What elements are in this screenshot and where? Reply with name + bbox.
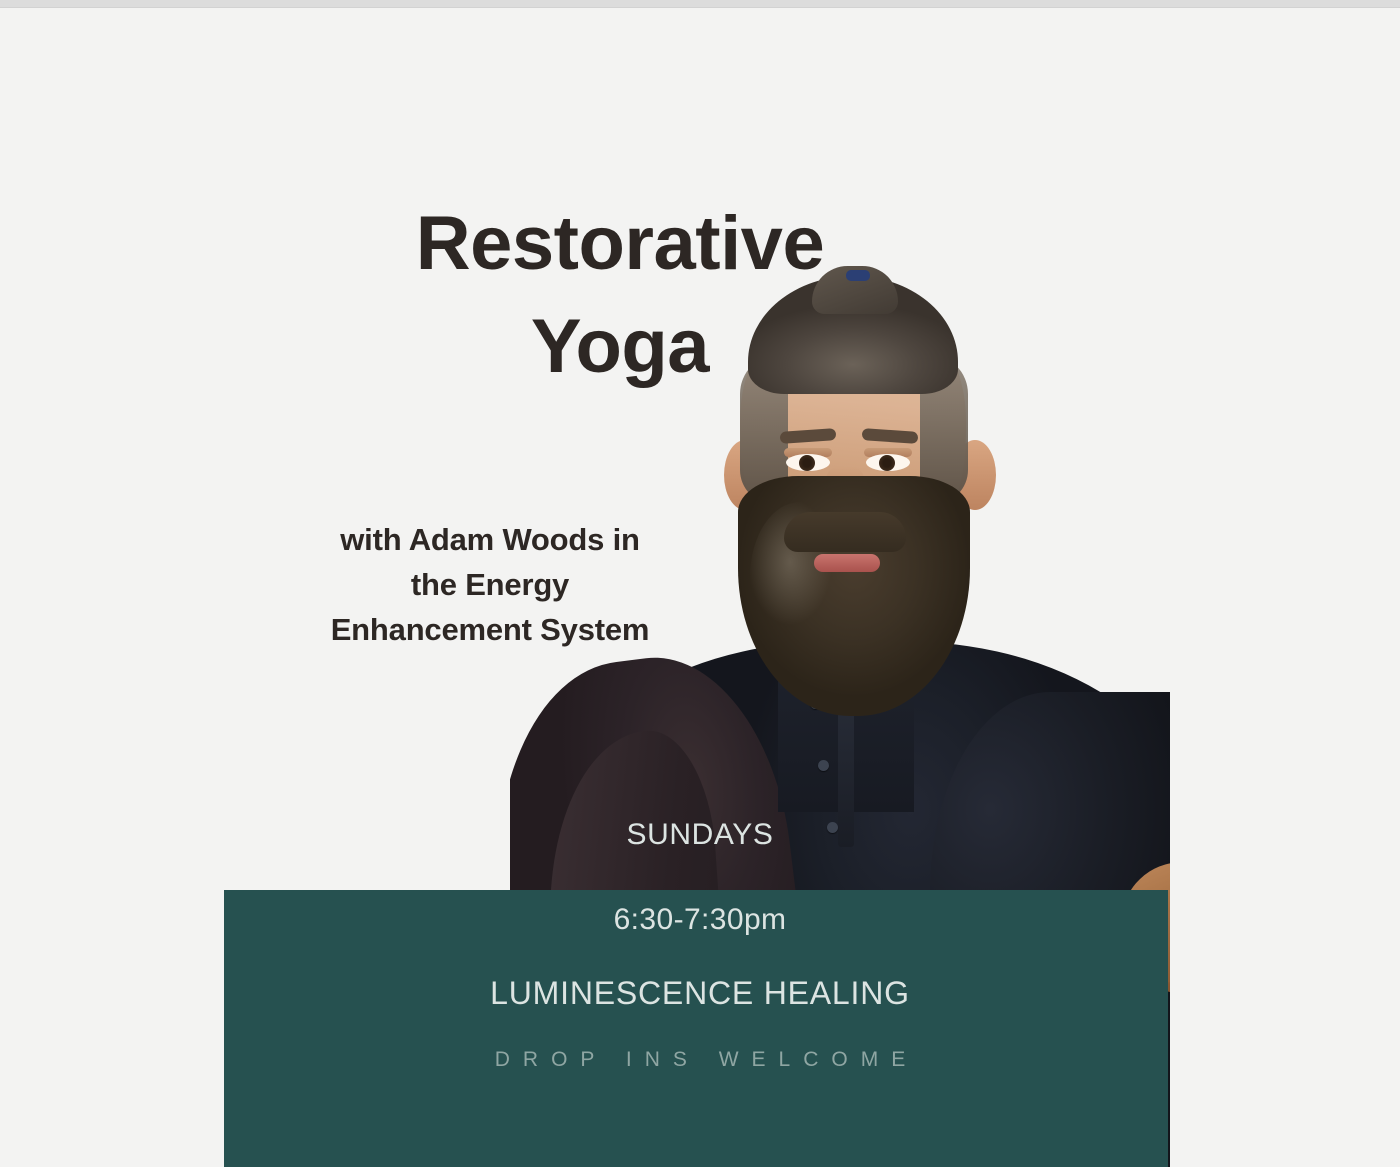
headline-line-2: Yoga	[210, 295, 1030, 398]
portrait-eye-left	[786, 454, 830, 471]
schedule-time: 6:30-7:30pm	[0, 903, 1400, 937]
subheading: with Adam Woods in the Energy Enhancemen…	[210, 518, 770, 653]
subheading-line-2: the Energy	[210, 563, 770, 608]
portrait-shirt-button	[818, 760, 829, 771]
portrait-iris-right	[879, 455, 895, 471]
headline-line-1: Restorative	[210, 192, 1030, 295]
flyer-canvas: Restorative Yoga with Adam Woods in the …	[0, 0, 1400, 1167]
portrait-iris-left	[799, 455, 815, 471]
top-chrome-strip	[0, 0, 1400, 8]
subheading-line-1: with Adam Woods in	[210, 518, 770, 563]
portrait-lips	[814, 554, 880, 572]
venue-name: LUMINESCENCE HEALING	[0, 975, 1400, 1012]
portrait-mustache	[784, 512, 906, 552]
subheading-line-3: Enhancement System	[210, 608, 770, 653]
drop-ins-note: DROP INS WELCOME	[0, 1048, 1400, 1072]
page-title: Restorative Yoga	[210, 192, 1030, 399]
portrait-eye-right	[866, 454, 910, 471]
schedule-day: SUNDAYS	[0, 818, 1400, 852]
